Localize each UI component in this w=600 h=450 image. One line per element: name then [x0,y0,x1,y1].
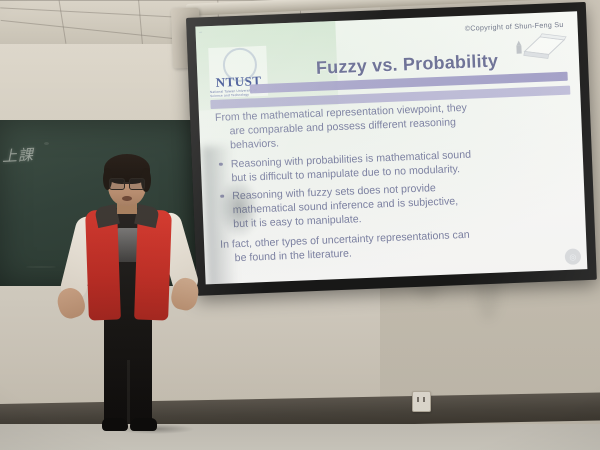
wall-outlet[interactable] [412,391,431,412]
presenter-leg-seam [127,360,130,424]
presenter-vest-collar-right [134,204,160,228]
list-item: Reasoning with fuzzy sets does not provi… [216,176,577,232]
glasses-lens-right-icon [129,178,145,190]
slide-body: From the mathematical representation vie… [213,98,579,272]
presenter-shoe-right [130,418,157,431]
presenter [60,150,210,450]
projected-slide: ‾ NTUST National Taiwan University of Sc… [195,11,587,284]
bullet-list: Reasoning with probabilities is mathemat… [215,144,578,232]
presenter-shoe-left [102,418,128,431]
glasses-lens-left-icon [109,178,125,190]
lecture-room-photo: 上課 ‾ NTUST National Taiwan University of… [0,0,600,450]
closing-paragraph: In fact, other types of uncertainty repr… [218,224,579,266]
chalk-writing: 上課 [1,143,58,172]
presenter-mouth [122,196,132,201]
projection-screen-frame: ‾ NTUST National Taiwan University of Sc… [186,2,597,296]
corner-mark-icon: ‾ [200,32,203,39]
glasses-bridge-icon [123,182,129,184]
slide-watermark-icon: ◎ [565,248,582,265]
